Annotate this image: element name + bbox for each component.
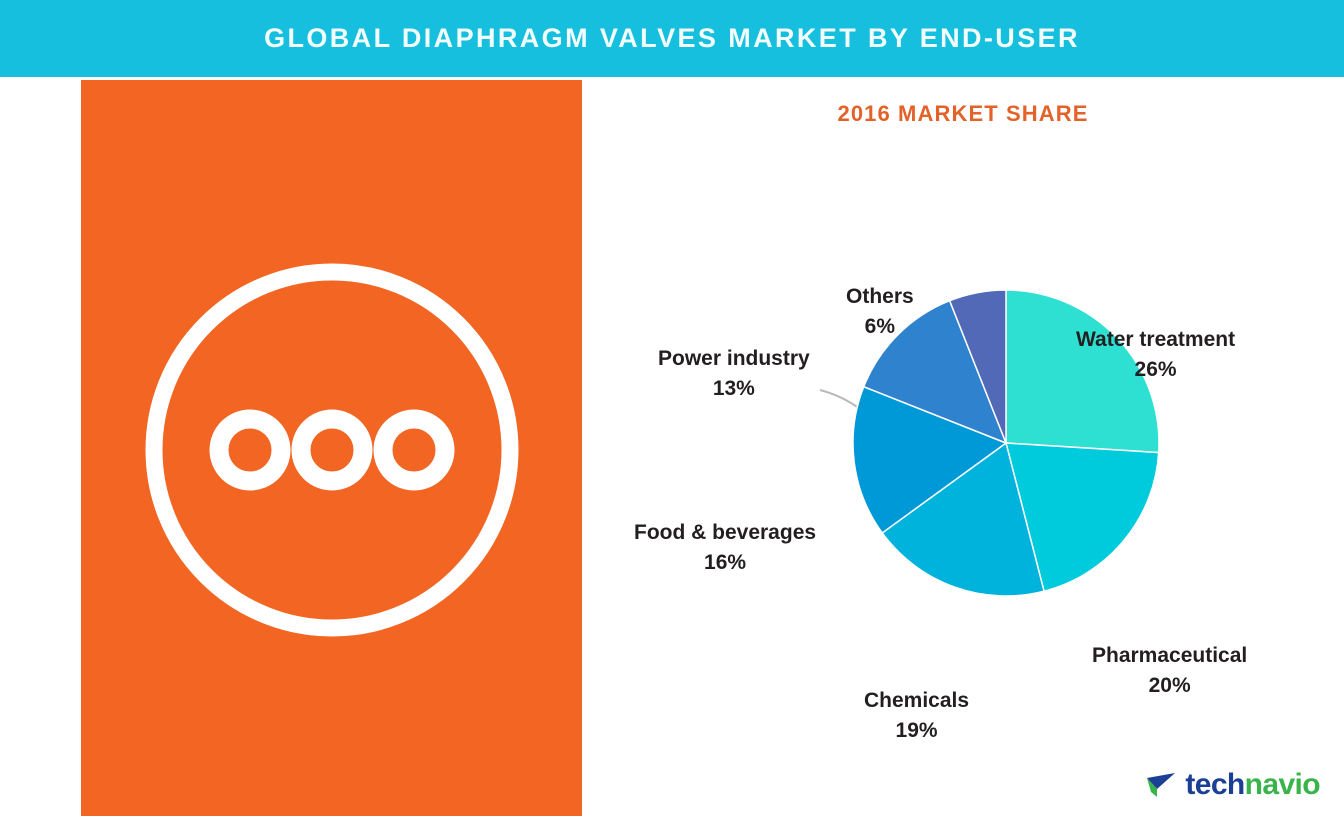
pie-label-name: Chemicals bbox=[864, 686, 969, 716]
pie-label-name: Power industry bbox=[658, 344, 810, 374]
pie-label-value: 20% bbox=[1092, 671, 1247, 701]
pie-label-name: Pharmaceutical bbox=[1092, 641, 1247, 671]
pie-label-value: 26% bbox=[1076, 355, 1235, 385]
pie-label-water-treatment: Water treatment 26% bbox=[1076, 325, 1235, 385]
pie-label-value: 6% bbox=[846, 312, 914, 342]
pie-label-others: Others 6% bbox=[846, 282, 914, 342]
pie-label-pharmaceutical: Pharmaceutical 20% bbox=[1092, 641, 1247, 701]
pie-label-name: Water treatment bbox=[1076, 325, 1235, 355]
pie-label-chemicals: Chemicals 19% bbox=[864, 686, 969, 746]
header-band: GLOBAL DIAPHRAGM VALVES MARKET BY END-US… bbox=[0, 0, 1344, 77]
diaphragm-valve-icon bbox=[138, 256, 526, 644]
pie-chart: Water treatment 26% Pharmaceutical 20% C… bbox=[582, 77, 1344, 816]
pie-label-food-beverages: Food & beverages 16% bbox=[634, 518, 816, 578]
brand-navio-text: navio bbox=[1245, 770, 1320, 800]
page-title: GLOBAL DIAPHRAGM VALVES MARKET BY END-US… bbox=[264, 23, 1080, 54]
pie-label-power-industry: Power industry 13% bbox=[658, 344, 810, 404]
pie-label-value: 16% bbox=[634, 548, 816, 578]
technavio-logo: tech navio bbox=[1145, 770, 1320, 800]
left-orange-panel bbox=[81, 80, 582, 816]
pie-label-value: 13% bbox=[658, 374, 810, 404]
infographic-page: GLOBAL DIAPHRAGM VALVES MARKET BY END-US… bbox=[0, 0, 1344, 816]
brand-tech-text: tech bbox=[1185, 770, 1244, 800]
chart-panel: 2016 MARKET SHARE bbox=[582, 77, 1344, 816]
pie-label-name: Food & beverages bbox=[634, 518, 816, 548]
paper-plane-icon bbox=[1145, 770, 1179, 800]
pie-label-value: 19% bbox=[864, 716, 969, 746]
pie-label-name: Others bbox=[846, 282, 914, 312]
